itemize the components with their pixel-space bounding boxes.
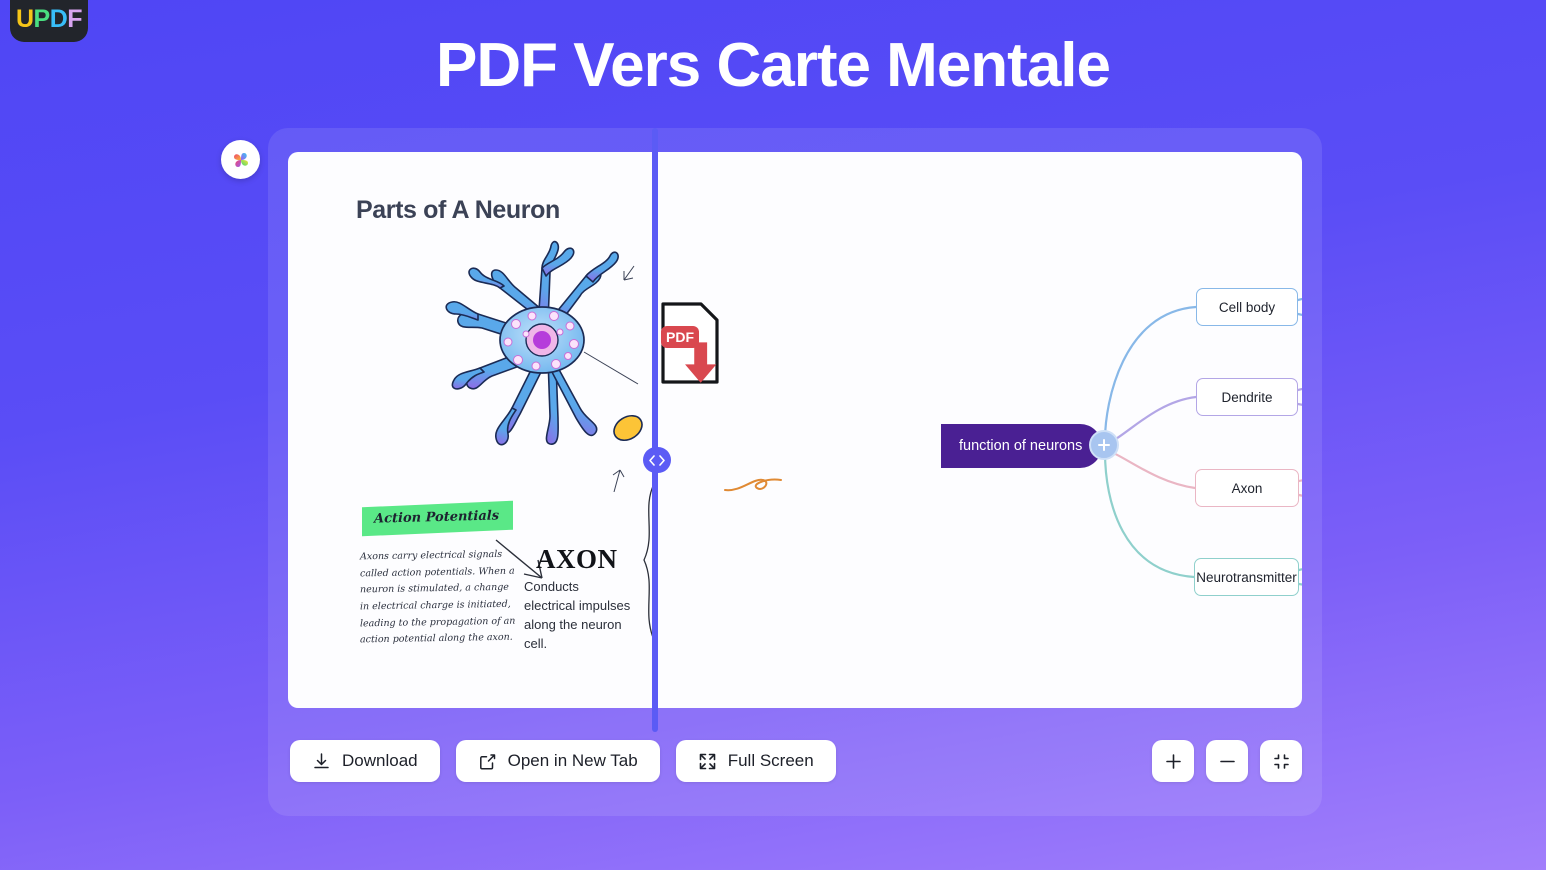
pdf-document-title: Parts of A Neuron xyxy=(356,196,560,225)
mindmap-pane[interactable]: function of neurons Cell body Dendrite A… xyxy=(653,152,1302,708)
plus-icon xyxy=(1097,438,1111,452)
zoom-controls xyxy=(1152,740,1302,782)
pane-splitter-handle[interactable] xyxy=(643,447,671,473)
mindmap-node-dendrite[interactable]: Dendrite xyxy=(1196,378,1298,416)
minus-icon xyxy=(1218,752,1237,771)
fullscreen-expand-icon xyxy=(698,752,717,771)
fit-screen-button[interactable] xyxy=(1260,740,1302,782)
orange-doodle-icon xyxy=(723,474,783,498)
mindmap-node-axon[interactable]: Axon xyxy=(1195,469,1299,507)
resize-arrows-icon xyxy=(647,455,667,466)
mindmap-node-neurotransmitter[interactable]: Neurotransmitter xyxy=(1194,558,1299,596)
clover-logo-icon xyxy=(228,147,254,173)
document-preview-card[interactable]: Parts of A Neuron xyxy=(288,152,1302,708)
download-icon xyxy=(312,752,331,771)
zoom-out-button[interactable] xyxy=(1206,740,1248,782)
pane-splitter[interactable] xyxy=(652,128,658,732)
node-label: Cell body xyxy=(1219,300,1275,315)
node-label: Neurotransmitter xyxy=(1196,570,1297,585)
central-node-label: function of neurons xyxy=(959,438,1082,454)
open-in-new-tab-label: Open in New Tab xyxy=(508,751,638,771)
action-potentials-chip: Action Potentials xyxy=(362,501,513,537)
node-label: Axon xyxy=(1232,481,1263,496)
node-label: Dendrite xyxy=(1221,390,1272,405)
expand-node-button[interactable] xyxy=(1089,430,1119,460)
mindmap-central-node[interactable]: function of neurons xyxy=(941,424,1102,468)
brand-avatar-badge[interactable] xyxy=(221,140,260,179)
zoom-in-button[interactable] xyxy=(1152,740,1194,782)
axon-heading: AXON xyxy=(536,544,618,575)
external-link-icon xyxy=(478,752,497,771)
action-toolbar: Download Open in New Tab Full Screen xyxy=(290,740,836,782)
fit-screen-collapse-icon xyxy=(1272,752,1291,771)
axon-description: Conducts electrical impulses along the n… xyxy=(524,578,632,653)
full-screen-label: Full Screen xyxy=(728,751,814,771)
download-label: Download xyxy=(342,751,418,771)
action-potentials-label: Action Potentials xyxy=(374,508,499,526)
full-screen-button[interactable]: Full Screen xyxy=(676,740,836,782)
open-in-new-tab-button[interactable]: Open in New Tab xyxy=(456,740,660,782)
neuron-illustration xyxy=(438,232,648,492)
pdf-preview-pane[interactable]: Parts of A Neuron xyxy=(288,152,653,708)
download-button[interactable]: Download xyxy=(290,740,440,782)
mindmap-node-cell-body[interactable]: Cell body xyxy=(1196,288,1298,326)
plus-icon xyxy=(1164,752,1183,771)
page-title: PDF Vers Carte Mentale xyxy=(0,30,1546,101)
